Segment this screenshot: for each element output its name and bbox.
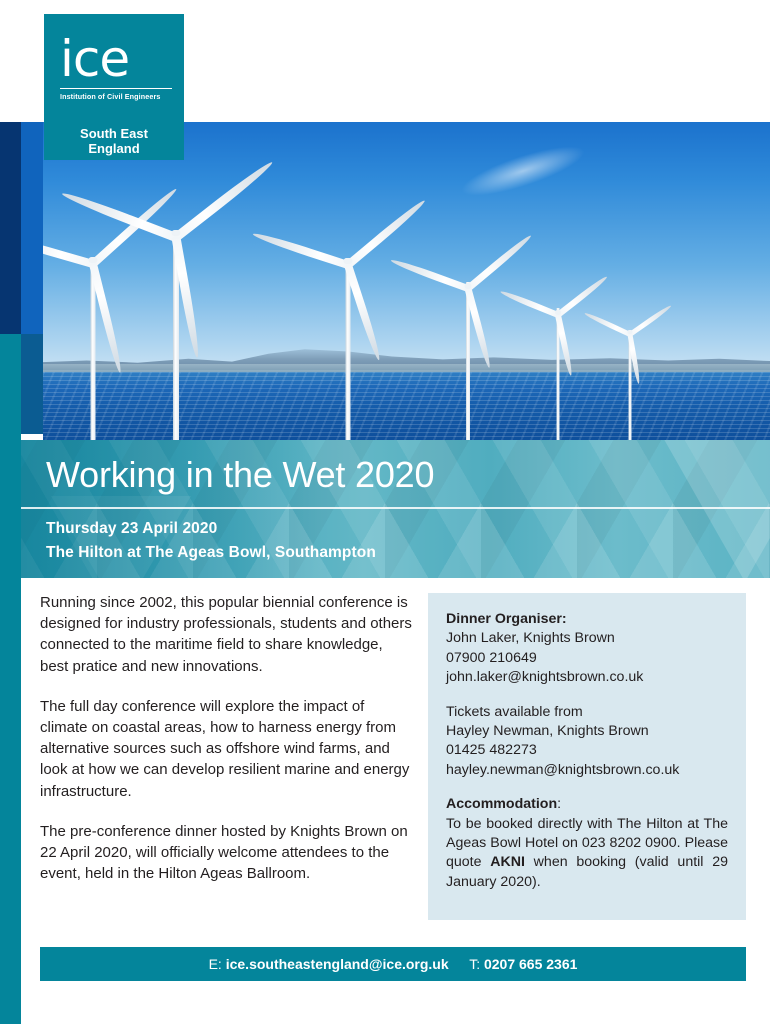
accommodation-block: Accommodation: To be booked directly wit… bbox=[446, 795, 728, 892]
body-paragraph: The pre-conference dinner hosted by Knig… bbox=[40, 821, 412, 885]
accommodation-booking-code: AKNI bbox=[490, 854, 525, 870]
dinner-organiser-email[interactable]: john.laker@knightsbrown.co.uk bbox=[446, 669, 643, 685]
dinner-organiser-heading: Dinner Organiser: bbox=[446, 611, 567, 627]
footer-contact-bar: E: ice.southeastengland@ice.org.uk T: 02… bbox=[40, 947, 746, 981]
wind-turbine bbox=[283, 190, 413, 440]
dinner-organiser-block: Dinner Organiser: John Laker, Knights Br… bbox=[446, 610, 728, 688]
body-paragraph: The full day conference will explore the… bbox=[40, 696, 412, 802]
left-spine-steel-segment bbox=[21, 334, 43, 434]
ice-logo-subtitle: Institution of Civil Engineers bbox=[60, 92, 170, 101]
event-date: Thursday 23 April 2020 bbox=[46, 520, 217, 538]
region-tab-line1: South East bbox=[80, 126, 148, 141]
left-spine-blue-segment bbox=[21, 122, 43, 334]
wind-turbine bbox=[595, 290, 665, 440]
triangle-accent-large bbox=[661, 440, 770, 578]
ice-logo: ice Institution of Civil Engineers bbox=[44, 14, 184, 122]
wind-turbine bbox=[515, 262, 601, 440]
ice-logo-rule bbox=[60, 88, 172, 89]
hero-photo bbox=[43, 122, 770, 440]
accommodation-heading: Accommodation bbox=[446, 796, 557, 812]
tickets-label: Tickets available from bbox=[446, 704, 583, 720]
poster-page: ice Institution of Civil Engineers South… bbox=[0, 0, 770, 1024]
tickets-phone[interactable]: 01425 482273 bbox=[446, 742, 537, 758]
wind-turbine bbox=[413, 225, 523, 440]
footer-phone-label: T: bbox=[469, 956, 480, 972]
body-copy: Running since 2002, this popular biennia… bbox=[40, 592, 412, 903]
footer-email-value[interactable]: ice.southeastengland@ice.org.uk bbox=[226, 956, 449, 972]
contact-info-box: Dinner Organiser: John Laker, Knights Br… bbox=[428, 593, 746, 920]
title-divider bbox=[21, 507, 770, 509]
region-tab-line2: England bbox=[88, 141, 139, 156]
accommodation-heading-colon: : bbox=[557, 796, 561, 812]
wind-turbine bbox=[101, 150, 251, 440]
footer-phone-value[interactable]: 0207 665 2361 bbox=[484, 956, 577, 972]
page-title: Working in the Wet 2020 bbox=[46, 454, 434, 496]
left-spine-navy-segment bbox=[0, 122, 21, 334]
region-tab: South East England bbox=[44, 122, 184, 160]
dinner-organiser-phone[interactable]: 07900 210649 bbox=[446, 650, 537, 666]
event-venue: The Hilton at The Ageas Bowl, Southampto… bbox=[46, 544, 376, 562]
footer-email-label: E: bbox=[209, 956, 222, 972]
tickets-block: Tickets available from Hayley Newman, Kn… bbox=[446, 703, 728, 781]
body-paragraph: Running since 2002, this popular biennia… bbox=[40, 592, 412, 677]
tickets-email[interactable]: hayley.newman@knightsbrown.co.uk bbox=[446, 762, 679, 778]
tickets-contact-name: Hayley Newman, Knights Brown bbox=[446, 723, 649, 739]
event-title-band: Working in the Wet 2020 Thursday 23 Apri… bbox=[21, 440, 770, 578]
ice-logo-wordmark: ice bbox=[60, 36, 170, 82]
dinner-organiser-name: John Laker, Knights Brown bbox=[446, 630, 615, 646]
footer-contact-text: E: ice.southeastengland@ice.org.uk T: 02… bbox=[209, 956, 578, 972]
